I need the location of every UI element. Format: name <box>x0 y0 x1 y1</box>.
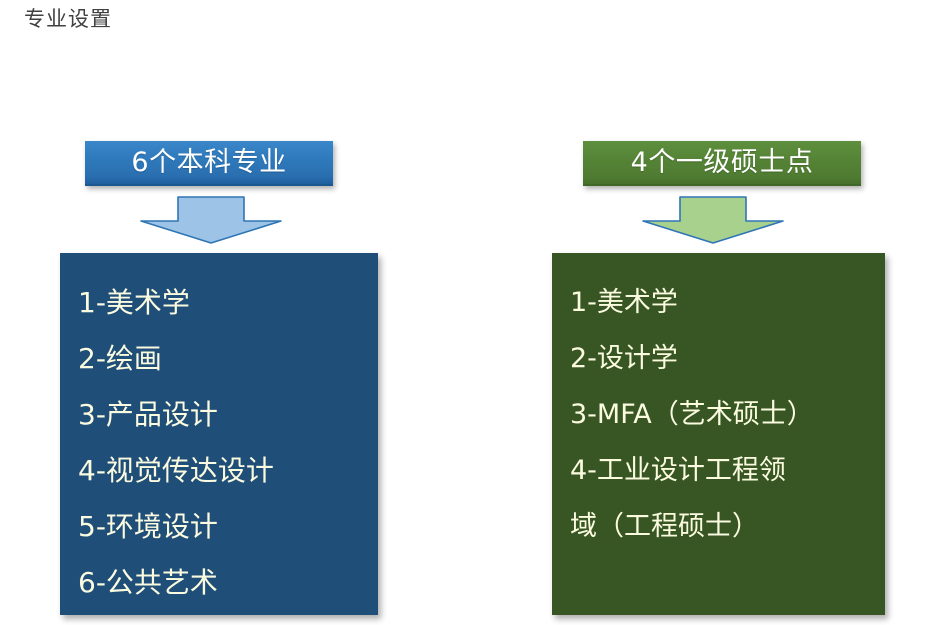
list-item: 2-设计学 <box>570 331 885 387</box>
arrow-down-icon-master <box>642 196 784 244</box>
column-master: 4个一级硕士点 1-美术学 2-设计学 3-MFA（艺术硕士） 4-工业设计工程… <box>470 0 951 625</box>
list-item: 5-环境设计 <box>78 499 378 555</box>
list-item: 6-公共艺术 <box>78 555 378 611</box>
list-item: 1-美术学 <box>570 275 885 331</box>
banner-undergraduate-label: 6个本科专业 <box>131 148 286 178</box>
banner-master-label: 4个一级硕士点 <box>631 148 814 178</box>
banner-master[interactable]: 4个一级硕士点 <box>583 141 861 186</box>
list-item: 4-视觉传达设计 <box>78 443 378 499</box>
column-undergraduate: 6个本科专业 1-美术学 2-绘画 3-产品设计 4-视觉传达设计 5-环境设计… <box>0 0 470 625</box>
list-item: 2-绘画 <box>78 331 378 387</box>
list-item: 4-工业设计工程领 <box>570 443 885 499</box>
list-item: 1-美术学 <box>78 275 378 331</box>
panel-undergraduate: 1-美术学 2-绘画 3-产品设计 4-视觉传达设计 5-环境设计 6-公共艺术 <box>60 253 378 615</box>
list-item-continuation: 域（工程硕士） <box>570 499 885 555</box>
panel-master: 1-美术学 2-设计学 3-MFA（艺术硕士） 4-工业设计工程领 域（工程硕士… <box>552 253 885 615</box>
banner-undergraduate[interactable]: 6个本科专业 <box>85 141 333 186</box>
arrow-down-icon-undergraduate <box>140 196 282 244</box>
list-item: 3-MFA（艺术硕士） <box>570 387 885 443</box>
list-item: 3-产品设计 <box>78 387 378 443</box>
